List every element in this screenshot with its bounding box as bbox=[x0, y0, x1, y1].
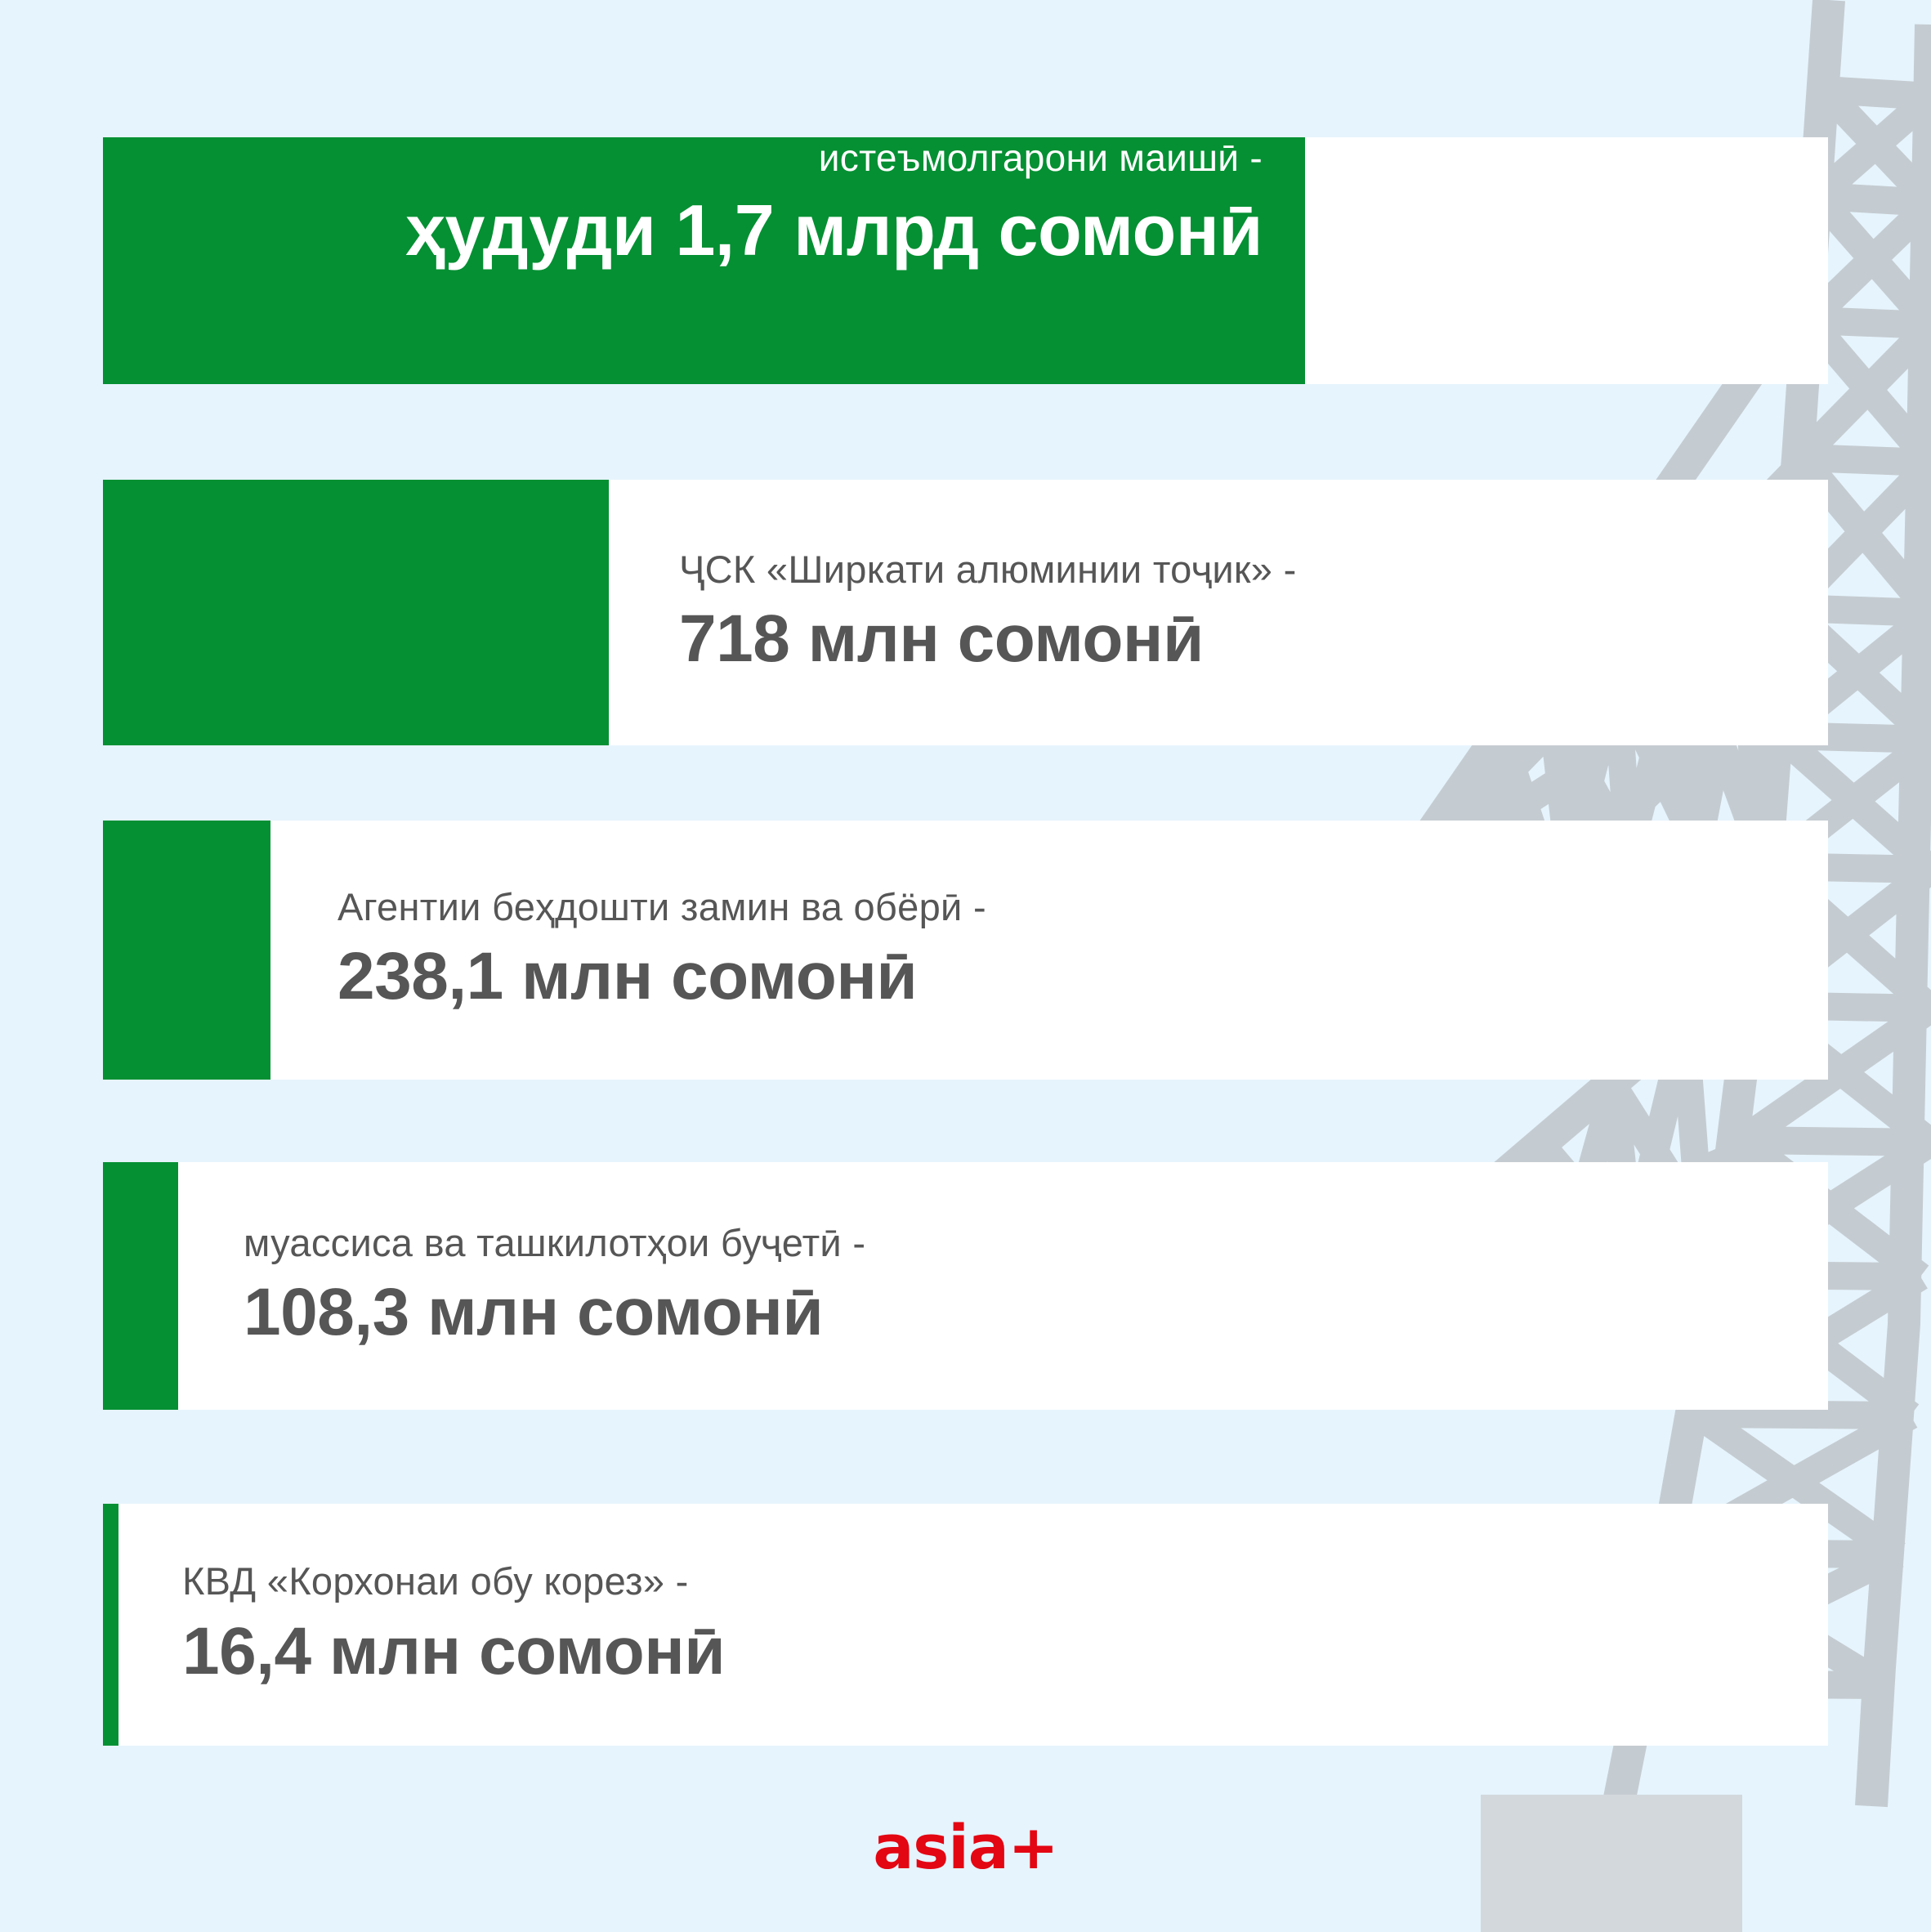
brand-footer: asia+ bbox=[0, 1813, 1931, 1883]
bar-fill-5 bbox=[103, 1504, 118, 1746]
bar-row-5: КВД «Корхонаи обу корез» - 16,4 млн сомо… bbox=[103, 1504, 1828, 1746]
bar-row-1: истеъмолгарони маишӣ - ҳудуди 1,7 млрд с… bbox=[103, 137, 1828, 384]
bar-value-5: 16,4 млн сомонӣ bbox=[182, 1614, 725, 1689]
bar-plate-4: муассиса ва ташкилотҳои буҷетӣ - 108,3 м… bbox=[178, 1162, 1828, 1410]
bar-category-4: муассиса ва ташкилотҳои буҷетӣ - bbox=[244, 1222, 865, 1264]
infographic-canvas: истеъмолгарони маишӣ - ҳудуди 1,7 млрд с… bbox=[0, 0, 1931, 1932]
bar-labels-2: ҶСК «Ширкати алюминии тоҷик» - 718 млн с… bbox=[609, 548, 1297, 678]
bar-row-2: ҶСК «Ширкати алюминии тоҷик» - 718 млн с… bbox=[103, 480, 1828, 745]
bar-plate-3: Агентии беҳдошти замин ва обёрӣ - 238,1 … bbox=[270, 821, 1828, 1080]
asia-plus-logo: asia+ bbox=[873, 1813, 1057, 1883]
bar-category-1: истеъмолгарони маишӣ - bbox=[819, 137, 1263, 179]
bar-value-1: ҳудуди 1,7 млрд сомонӣ bbox=[405, 190, 1263, 271]
bar-fill-2 bbox=[103, 480, 609, 745]
bar-value-4: 108,3 млн сомонӣ bbox=[244, 1275, 865, 1350]
bar-value-3: 238,1 млн сомонӣ bbox=[337, 939, 986, 1014]
bar-value-2: 718 млн сомонӣ bbox=[679, 602, 1297, 677]
bar-row-4: муассиса ва ташкилотҳои буҷетӣ - 108,3 м… bbox=[103, 1162, 1828, 1410]
bar-labels-4: муассиса ва ташкилотҳои буҷетӣ - 108,3 м… bbox=[178, 1222, 865, 1351]
bar-category-2: ҶСК «Ширкати алюминии тоҷик» - bbox=[679, 548, 1297, 591]
bar-category-3: Агентии беҳдошти замин ва обёрӣ - bbox=[337, 886, 986, 928]
bar-fill-4 bbox=[103, 1162, 178, 1410]
bar-plate-5: КВД «Корхонаи обу корез» - 16,4 млн сомо… bbox=[118, 1504, 1828, 1746]
bar-plate-1 bbox=[1305, 137, 1828, 384]
bar-fill-1: истеъмолгарони маишӣ - ҳудуди 1,7 млрд с… bbox=[103, 137, 1305, 384]
bar-plate-2: ҶСК «Ширкати алюминии тоҷик» - 718 млн с… bbox=[609, 480, 1828, 745]
bar-labels-1: истеъмолгарони маишӣ - ҳудуди 1,7 млрд с… bbox=[103, 137, 1305, 271]
bar-fill-3 bbox=[103, 821, 270, 1080]
bar-labels-3: Агентии беҳдошти замин ва обёрӣ - 238,1 … bbox=[270, 886, 986, 1015]
bar-category-5: КВД «Корхонаи обу корез» - bbox=[182, 1560, 725, 1603]
bar-row-3: Агентии беҳдошти замин ва обёрӣ - 238,1 … bbox=[103, 821, 1828, 1080]
bar-labels-5: КВД «Корхонаи обу корез» - 16,4 млн сомо… bbox=[118, 1560, 725, 1689]
